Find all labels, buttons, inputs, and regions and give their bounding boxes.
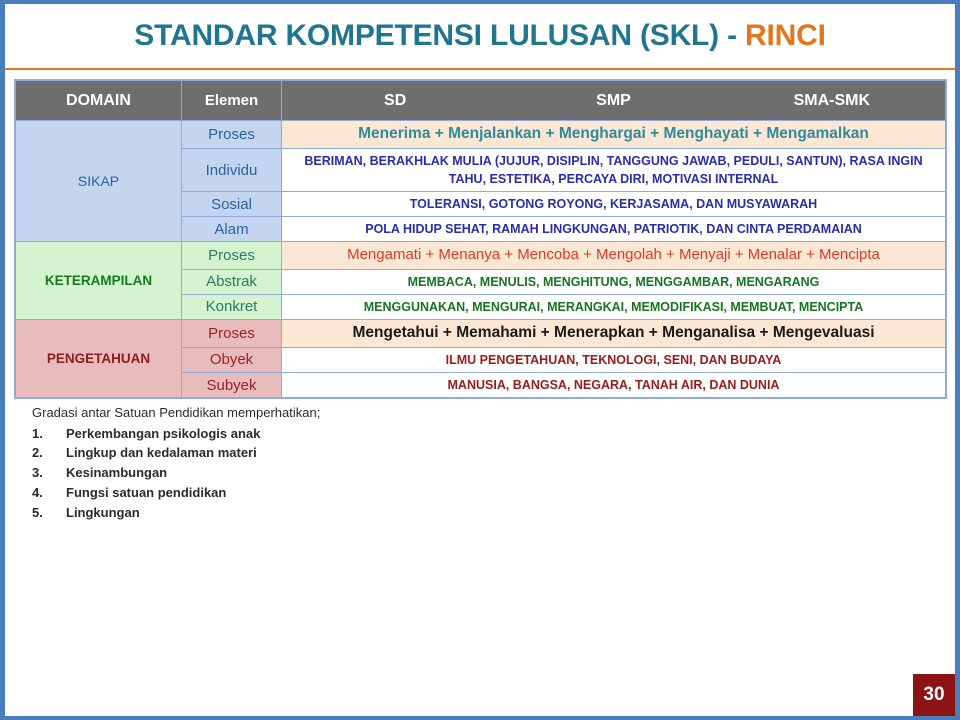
elemen-cell-pengetahuan-subyek: Subyek <box>182 372 282 397</box>
page-title-main: STANDAR KOMPETENSI LULUSAN (SKL) - <box>134 19 745 52</box>
content-text: ILMU PENGETAHUAN, TEKNOLOGI, SENI, DAN B… <box>286 351 941 369</box>
list-item-label: Kesinambungan <box>66 463 955 483</box>
header-domain: DOMAIN <box>16 81 182 121</box>
header-level-sd: SD <box>286 92 504 110</box>
domain-cell-sikap: SIKAP <box>16 121 182 242</box>
skl-table-wrapper: DOMAIN Elemen SD SMP SMA-SMK SIKAP Prose… <box>14 79 947 399</box>
slide-title-band: STANDAR KOMPETENSI LULUSAN (SKL) - RINCI <box>5 4 955 68</box>
content-text: Mengamati + Menanya + Mencoba + Mengolah… <box>286 245 941 265</box>
content-text: TOLERANSI, GOTONG ROYONG, KERJASAMA, DAN… <box>286 195 941 213</box>
list-item: 2. Lingkup dan kedalaman materi <box>32 443 955 463</box>
elemen-cell-keterampilan-proses: Proses <box>182 242 282 269</box>
content-text: BERIMAN, BERAKHLAK MULIA (JUJUR, DISIPLI… <box>286 152 941 188</box>
content-cell-keterampilan-proses: Mengamati + Menanya + Mencoba + Mengolah… <box>282 242 946 269</box>
page-number-badge: 30 <box>913 674 955 716</box>
list-item-number: 2. <box>32 443 66 463</box>
list-item-number: 1. <box>32 424 66 444</box>
list-item: 5. Lingkungan <box>32 503 955 523</box>
content-cell-sikap-individu: BERIMAN, BERAKHLAK MULIA (JUJUR, DISIPLI… <box>282 148 946 191</box>
content-text: MEMBACA, MENULIS, MENGHITUNG, MENGGAMBAR… <box>286 273 941 291</box>
elemen-cell-pengetahuan-proses: Proses <box>182 319 282 347</box>
list-item: 3. Kesinambungan <box>32 463 955 483</box>
list-item-label: Perkembangan psikologis anak <box>66 424 955 444</box>
content-cell-keterampilan-konkret: MENGGUNAKAN, MENGURAI, MERANGKAI, MEMODI… <box>282 294 946 319</box>
footer-notes: Gradasi antar Satuan Pendidikan memperha… <box>32 403 955 522</box>
content-cell-pengetahuan-obyek: ILMU PENGETAHUAN, TEKNOLOGI, SENI, DAN B… <box>282 347 946 372</box>
header-level-smp: SMP <box>504 92 722 110</box>
skl-table: DOMAIN Elemen SD SMP SMA-SMK SIKAP Prose… <box>15 80 946 398</box>
header-level-sma-smk: SMA-SMK <box>723 92 941 110</box>
list-item: 1. Perkembangan psikologis anak <box>32 424 955 444</box>
elemen-cell-sikap-proses: Proses <box>182 121 282 149</box>
content-text: POLA HIDUP SEHAT, RAMAH LINGKUNGAN, PATR… <box>286 220 941 238</box>
list-item: 4. Fungsi satuan pendidikan <box>32 483 955 503</box>
table-row: PENGETAHUAN Proses Mengetahui + Memahami… <box>16 319 946 347</box>
elemen-cell-keterampilan-abstrak: Abstrak <box>182 269 282 294</box>
list-item-label: Lingkungan <box>66 503 955 523</box>
header-levels: SD SMP SMA-SMK <box>282 81 946 121</box>
elemen-cell-sikap-sosial: Sosial <box>182 192 282 217</box>
content-cell-sikap-proses: Menerima + Menjalankan + Menghargai + Me… <box>282 121 946 149</box>
list-item-number: 4. <box>32 483 66 503</box>
domain-cell-keterampilan: KETERAMPILAN <box>16 242 182 320</box>
domain-cell-pengetahuan: PENGETAHUAN <box>16 319 182 397</box>
list-item-number: 3. <box>32 463 66 483</box>
page-title-accent: RINCI <box>745 19 826 52</box>
content-cell-pengetahuan-subyek: MANUSIA, BANGSA, NEGARA, TANAH AIR, DAN … <box>282 372 946 397</box>
table-header-row: DOMAIN Elemen SD SMP SMA-SMK <box>16 81 946 121</box>
elemen-cell-pengetahuan-obyek: Obyek <box>182 347 282 372</box>
content-text: Mengetahui + Memahami + Menerapkan + Men… <box>286 323 941 344</box>
notes-list: 1. Perkembangan psikologis anak 2. Lingk… <box>32 424 955 523</box>
content-text: MENGGUNAKAN, MENGURAI, MERANGKAI, MEMODI… <box>286 298 941 316</box>
table-row: SIKAP Proses Menerima + Menjalankan + Me… <box>16 121 946 149</box>
elemen-cell-keterampilan-konkret: Konkret <box>182 294 282 319</box>
elemen-cell-sikap-alam: Alam <box>182 217 282 242</box>
content-cell-keterampilan-abstrak: MEMBACA, MENULIS, MENGHITUNG, MENGGAMBAR… <box>282 269 946 294</box>
table-row: KETERAMPILAN Proses Mengamati + Menanya … <box>16 242 946 269</box>
slide-container: STANDAR KOMPETENSI LULUSAN (SKL) - RINCI… <box>0 0 960 720</box>
content-cell-sikap-sosial: TOLERANSI, GOTONG ROYONG, KERJASAMA, DAN… <box>282 192 946 217</box>
notes-lead: Gradasi antar Satuan Pendidikan memperha… <box>32 403 955 423</box>
list-item-label: Lingkup dan kedalaman materi <box>66 443 955 463</box>
list-item-number: 5. <box>32 503 66 523</box>
elemen-cell-sikap-individu: Individu <box>182 148 282 191</box>
content-text: MANUSIA, BANGSA, NEGARA, TANAH AIR, DAN … <box>286 376 941 394</box>
content-cell-sikap-alam: POLA HIDUP SEHAT, RAMAH LINGKUNGAN, PATR… <box>282 217 946 242</box>
header-elemen: Elemen <box>182 81 282 121</box>
content-text: Menerima + Menjalankan + Menghargai + Me… <box>286 124 941 145</box>
list-item-label: Fungsi satuan pendidikan <box>66 483 955 503</box>
title-divider <box>5 68 955 70</box>
content-cell-pengetahuan-proses: Mengetahui + Memahami + Menerapkan + Men… <box>282 319 946 347</box>
page-title: STANDAR KOMPETENSI LULUSAN (SKL) - RINCI <box>134 19 825 53</box>
